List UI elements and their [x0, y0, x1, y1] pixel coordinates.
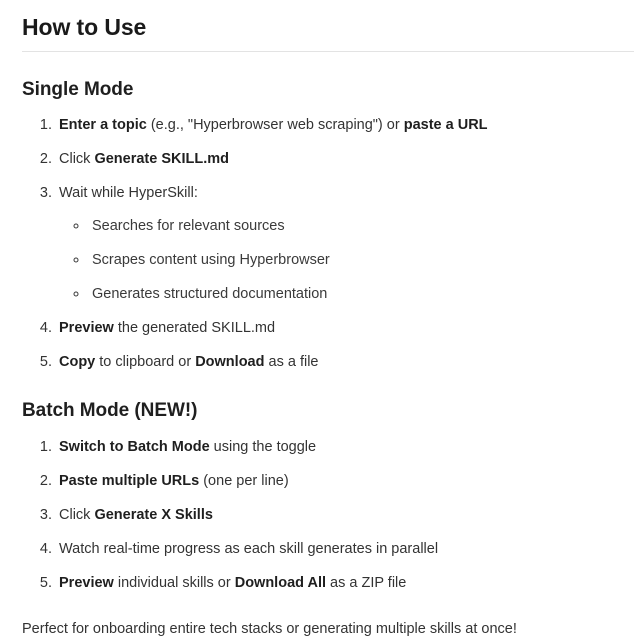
- substep-item: Searches for relevant sources: [89, 216, 612, 237]
- step-text: Paste multiple URLs (one per line): [59, 473, 289, 489]
- list-item: Click Generate X Skills: [56, 505, 612, 526]
- step-text: Click Generate X Skills: [59, 507, 213, 523]
- list-item: Wait while HyperSkill:Searches for relev…: [56, 183, 612, 305]
- list-item: Switch to Batch Mode using the toggle: [56, 437, 612, 458]
- steps-list-batch-mode: Switch to Batch Mode using the togglePas…: [22, 437, 612, 594]
- list-item: Copy to clipboard or Download as a file: [56, 352, 612, 373]
- list-item: Preview individual skills or Download Al…: [56, 573, 612, 594]
- substep-item: Generates structured documentation: [89, 284, 612, 305]
- step-text: Copy to clipboard or Download as a file: [59, 354, 318, 370]
- substep-item: Scrapes content using Hyperbrowser: [89, 250, 612, 271]
- substeps-list: Searches for relevant sourcesScrapes con…: [59, 216, 612, 305]
- steps-list-single-mode: Enter a topic (e.g., "Hyperbrowser web s…: [22, 115, 612, 373]
- how-to-use-document: How to Use Single ModeEnter a topic (e.g…: [0, 0, 634, 640]
- list-item: Click Generate SKILL.md: [56, 149, 612, 170]
- step-text: Preview individual skills or Download Al…: [59, 575, 406, 591]
- section-single-mode: Single ModeEnter a topic (e.g., "Hyperbr…: [22, 78, 612, 374]
- section-heading-single-mode: Single Mode: [22, 78, 612, 102]
- list-item: Watch real-time progress as each skill g…: [56, 539, 612, 560]
- step-text: Watch real-time progress as each skill g…: [59, 541, 438, 557]
- section-batch-mode: Batch Mode (NEW!)Switch to Batch Mode us…: [22, 399, 612, 594]
- section-heading-batch-mode: Batch Mode (NEW!): [22, 399, 612, 423]
- title-divider: [22, 51, 634, 52]
- step-text: Enter a topic (e.g., "Hyperbrowser web s…: [59, 117, 488, 133]
- closing-note: Perfect for onboarding entire tech stack…: [22, 619, 612, 640]
- step-text: Switch to Batch Mode using the toggle: [59, 439, 316, 455]
- step-text: Click Generate SKILL.md: [59, 151, 229, 167]
- list-item: Preview the generated SKILL.md: [56, 318, 612, 339]
- list-item: Enter a topic (e.g., "Hyperbrowser web s…: [56, 115, 612, 136]
- page-title: How to Use: [22, 14, 612, 51]
- step-text: Preview the generated SKILL.md: [59, 320, 275, 336]
- step-text: Wait while HyperSkill:: [59, 185, 198, 201]
- sections-container: Single ModeEnter a topic (e.g., "Hyperbr…: [22, 78, 612, 595]
- list-item: Paste multiple URLs (one per line): [56, 471, 612, 492]
